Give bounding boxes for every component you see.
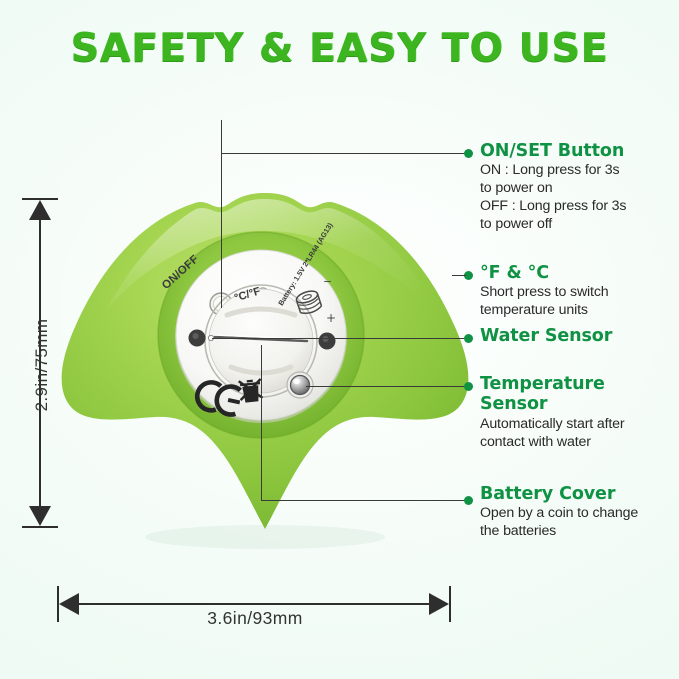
water-sensor-left-gloss bbox=[193, 333, 199, 339]
dim-width-cap-right bbox=[449, 586, 451, 622]
battery-minus-glyph: − bbox=[323, 275, 332, 288]
callout-on-set-button: ON/SET Button ON : Long press for 3s to … bbox=[480, 141, 676, 234]
leader-f-c-stub bbox=[452, 275, 466, 276]
callout-line: Open by a coin to change bbox=[480, 505, 676, 523]
callout-f-and-c: °F & °C Short press to switch temperatur… bbox=[480, 263, 676, 320]
dim-height-cap-bottom bbox=[22, 526, 58, 528]
temperature-sensor bbox=[291, 376, 310, 395]
callout-line: ON : Long press for 3s bbox=[480, 162, 676, 180]
bullet-battery-cover bbox=[464, 496, 473, 505]
callout-line: the batteries bbox=[480, 523, 676, 541]
callout-line: to power on bbox=[480, 180, 676, 198]
callout-title-on-set-button: ON/SET Button bbox=[480, 141, 676, 161]
callout-water-sensor: Water Sensor bbox=[480, 326, 676, 346]
callout-line: contact with water bbox=[480, 434, 676, 452]
callout-title-water-sensor: Water Sensor bbox=[480, 326, 676, 346]
temperature-sensor-gloss bbox=[293, 379, 300, 384]
callout-temperature-sensor: Temperature Sensor Automatically start a… bbox=[480, 374, 676, 452]
dim-width-label: 3.6in/93mm bbox=[155, 608, 355, 629]
leader-on-set-vertical bbox=[221, 120, 222, 308]
callout-body-battery-cover: Open by a coin to change the batteries bbox=[480, 505, 676, 541]
infographic-canvas: SAFETY & EASY TO USE bbox=[0, 0, 679, 679]
callout-body-temperature-sensor: Automatically start after contact with w… bbox=[480, 416, 676, 452]
dim-height-label: 2.9in/75mm bbox=[32, 310, 52, 420]
callout-line: temperature units bbox=[480, 302, 676, 320]
dim-width-line bbox=[71, 603, 441, 605]
leader-on-set-horizontal bbox=[221, 153, 464, 154]
bullet-on-set bbox=[464, 149, 473, 158]
leader-temp-sensor-horizontal bbox=[306, 386, 464, 387]
dim-height-arrow-bottom bbox=[29, 506, 51, 526]
leader-battery-cover-horizontal bbox=[261, 500, 464, 501]
callout-title-f-and-c: °F & °C bbox=[480, 263, 676, 283]
callout-title-temperature-sensor: Temperature Sensor bbox=[480, 374, 630, 415]
callout-line: Short press to switch bbox=[480, 284, 676, 302]
callout-title-battery-cover: Battery Cover bbox=[480, 484, 676, 504]
leader-f-c-horizontal bbox=[212, 338, 464, 339]
callout-line: OFF : Long press for 3s bbox=[480, 198, 676, 216]
battery-plus-glyph: + bbox=[326, 311, 336, 325]
callout-line: Automatically start after bbox=[480, 416, 676, 434]
bullet-water-sensor bbox=[464, 334, 473, 343]
water-sensor-right-gloss bbox=[323, 336, 329, 342]
leader-battery-cover-vertical bbox=[261, 345, 262, 501]
callout-body-on-set-button: ON : Long press for 3s to power on OFF :… bbox=[480, 162, 676, 234]
dim-width-arrow-right bbox=[429, 593, 449, 615]
callout-line: to power off bbox=[480, 216, 676, 234]
page-title: SAFETY & EASY TO USE bbox=[0, 26, 679, 71]
callout-body-f-and-c: Short press to switch temperature units bbox=[480, 284, 676, 320]
callout-battery-cover: Battery Cover Open by a coin to change t… bbox=[480, 484, 676, 541]
bullet-temp-sensor bbox=[464, 382, 473, 391]
